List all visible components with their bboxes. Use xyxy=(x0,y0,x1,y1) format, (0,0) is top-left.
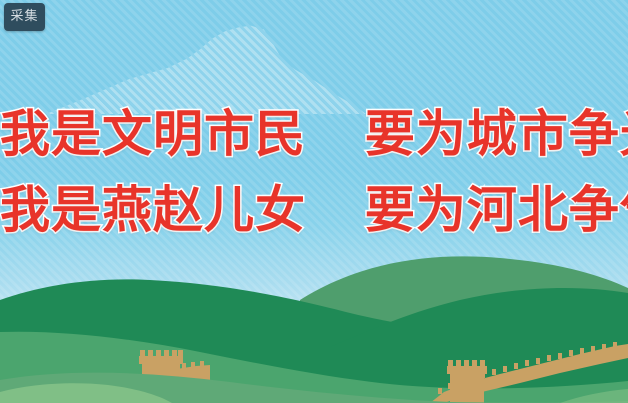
capture-button[interactable]: 采集 xyxy=(4,3,45,31)
slogan-line-2: 我是燕赵儿女 要为河北争气 xyxy=(0,172,628,248)
slogan-block: 我是文明市民 要为城市争光 我是燕赵儿女 要为河北争气 xyxy=(0,96,628,248)
slogan-line-1-right: 要为城市争光 xyxy=(365,105,628,163)
slogan-line-2-right: 要为河北争气 xyxy=(365,181,628,239)
watchtower-right-icon xyxy=(447,360,487,403)
slogan-line-1: 我是文明市民 要为城市争光 xyxy=(0,96,628,172)
poster-image: 我是文明市民 要为城市争光 我是燕赵儿女 要为河北争气 采集 xyxy=(0,0,628,403)
slogan-line-2-left: 我是燕赵儿女 xyxy=(0,181,306,239)
slogan-line-1-left: 我是文明市民 xyxy=(0,105,306,163)
